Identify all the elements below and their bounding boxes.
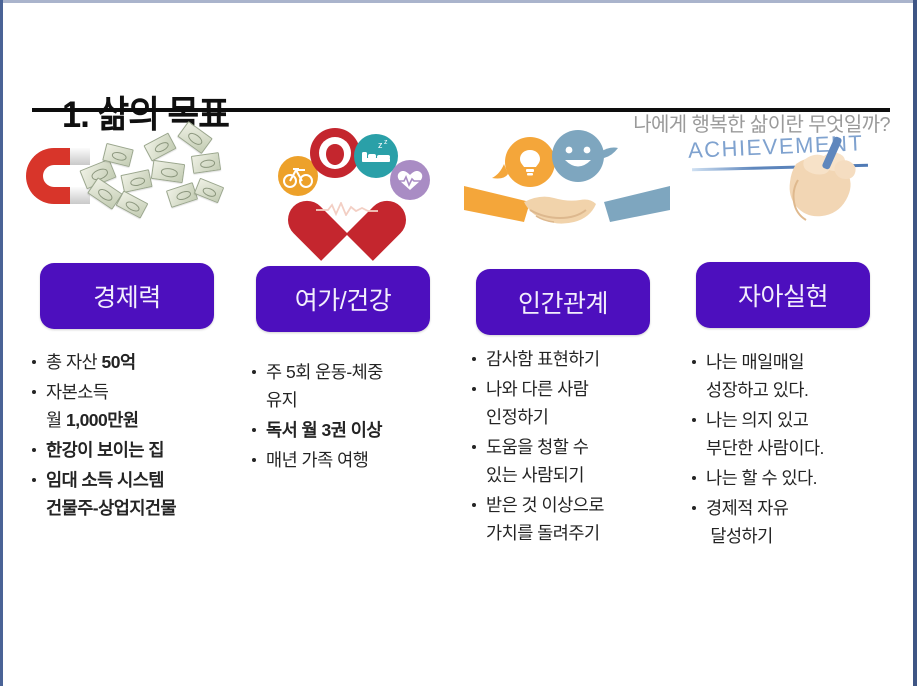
left-sleeve — [464, 186, 530, 222]
heart-pulse-icon — [390, 160, 430, 200]
apple-icon — [310, 128, 360, 178]
handshake-image — [458, 120, 676, 250]
money-bill-icon — [143, 132, 176, 161]
goal-bullets-health: 주 5회 운동-체중유지 독서 월 3권 이상 매년 가족 여행 — [246, 358, 458, 476]
money-bill-icon — [151, 160, 185, 183]
slide-border-top — [0, 0, 917, 3]
right-sleeve — [604, 186, 670, 222]
goal-column-selfactualization: ACHIEVEMENT 자아실현 나는 매일매일성장하고 있다 — [678, 120, 896, 620]
money-bill-icon — [194, 178, 224, 204]
svg-text:z: z — [384, 139, 388, 146]
writing-hand-icon — [790, 152, 856, 220]
big-heart-icon — [310, 176, 384, 244]
list-item: 매년 가족 여행 — [246, 446, 458, 474]
money-bill-icon — [191, 152, 221, 174]
svg-text:z: z — [378, 140, 383, 150]
goal-column-economy: 경제력 총 자산 50억 자본소득월 1,000만원 한강이 보이는 집 임대 … — [18, 120, 236, 620]
list-item: 자본소득월 1,000만원 — [26, 378, 238, 434]
money-bill-icon — [166, 182, 198, 208]
goal-label-text: 자아실현 — [738, 277, 828, 313]
goal-label-selfactualization[interactable]: 자아실현 — [696, 262, 870, 328]
money-bill-icon — [120, 169, 152, 193]
money-bill-icon — [177, 121, 212, 154]
goal-label-health[interactable]: 여가/건강 — [256, 266, 430, 332]
goal-column-relationships: 인간관계 감사함 표현하기 나와 다른 사람인정하기 도움을 청할 수있는 사람… — [458, 120, 676, 620]
list-item: 나는 할 수 있다. — [686, 464, 898, 492]
goal-label-relationships[interactable]: 인간관계 — [476, 269, 650, 335]
list-item: 도움을 청할 수있는 사람되기 — [466, 433, 678, 489]
list-item: 총 자산 50억 — [26, 348, 238, 376]
list-item: 나와 다른 사람인정하기 — [466, 375, 678, 431]
smile-bubble — [552, 130, 604, 182]
goal-columns: 경제력 총 자산 50억 자본소득월 1,000만원 한강이 보이는 집 임대 … — [0, 120, 917, 620]
list-item: 나는 의지 있고부단한 사람이다. — [686, 406, 898, 462]
achievement-writing-image: ACHIEVEMENT — [678, 120, 896, 250]
magnet-money-image — [18, 120, 236, 250]
goal-label-text: 인간관계 — [518, 284, 608, 320]
list-item: 임대 소득 시스템건물주-상업지건물 — [26, 466, 238, 522]
goal-bullets-relationships: 감사함 표현하기 나와 다른 사람인정하기 도움을 청할 수있는 사람되기 받은… — [466, 345, 678, 549]
list-item: 한강이 보이는 집 — [26, 436, 238, 464]
presentation-slide: 1. 삶의 목표 나에게 행복한 삶이란 무엇일까? — [0, 0, 917, 686]
title-underline-rule — [32, 108, 890, 112]
goal-label-economy[interactable]: 경제력 — [40, 263, 214, 329]
list-item: 감사함 표현하기 — [466, 345, 678, 373]
goal-label-text: 여가/건강 — [295, 281, 391, 317]
goal-label-text: 경제력 — [93, 278, 161, 314]
goal-bullets-selfactualization: 나는 매일매일성장하고 있다. 나는 의지 있고부단한 사람이다. 나는 할 수… — [686, 348, 898, 552]
health-icons-image: z z — [238, 120, 456, 250]
list-item: 주 5회 운동-체중유지 — [246, 358, 458, 414]
list-item: 경제적 자유 달성하기 — [686, 494, 898, 550]
list-item: 독서 월 3권 이상 — [246, 416, 458, 444]
list-item: 받은 것 이상으로가치를 돌려주기 — [466, 491, 678, 547]
goal-column-health: z z — [238, 120, 456, 620]
list-item: 나는 매일매일성장하고 있다. — [686, 348, 898, 404]
goal-bullets-economy: 총 자산 50억 자본소득월 1,000만원 한강이 보이는 집 임대 소득 시… — [26, 348, 238, 524]
money-bill-icon — [116, 190, 149, 218]
